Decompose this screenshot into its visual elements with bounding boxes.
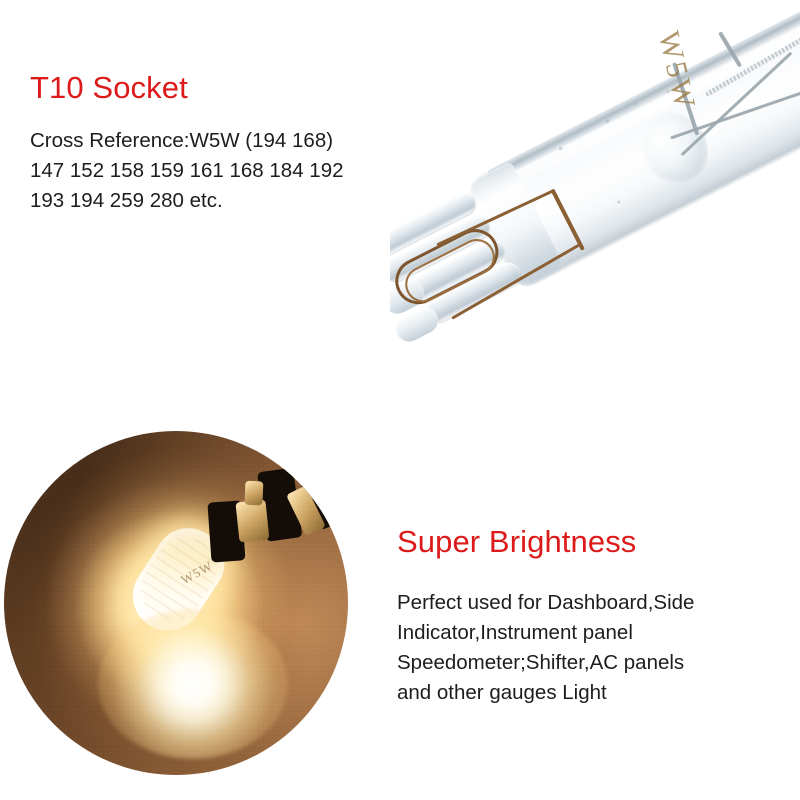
usage-line: Perfect used for Dashboard,Side (397, 588, 797, 618)
lit-bulb-circle-photo: W5W (4, 431, 348, 775)
clear-bulb-rotated-frame: W5W (390, 0, 800, 396)
cross-reference-line: 147 152 158 159 161 168 184 192 (30, 156, 430, 186)
usage-description-block: Perfect used for Dashboard,Side Indicato… (397, 588, 797, 708)
usage-line: Speedometer;Shifter,AC panels (397, 648, 797, 678)
page-title-super-brightness: Super Brightness (397, 524, 636, 560)
cross-reference-block: Cross Reference:W5W (194 168) 147 152 15… (30, 126, 430, 216)
clear-bulb-photo: W5W (390, 0, 800, 396)
page-title-t10-socket: T10 Socket (30, 70, 188, 106)
cross-reference-line: 193 194 259 280 etc. (30, 186, 430, 216)
surface-texture-overlay (4, 431, 348, 775)
product-feature-image: W5W T10 Socket Cross Reference:W5W (194 … (0, 0, 800, 800)
usage-line: Indicator,Instrument panel (397, 618, 797, 648)
cross-reference-line: Cross Reference:W5W (194 168) (30, 126, 430, 156)
usage-line: and other gauges Light (397, 678, 797, 708)
